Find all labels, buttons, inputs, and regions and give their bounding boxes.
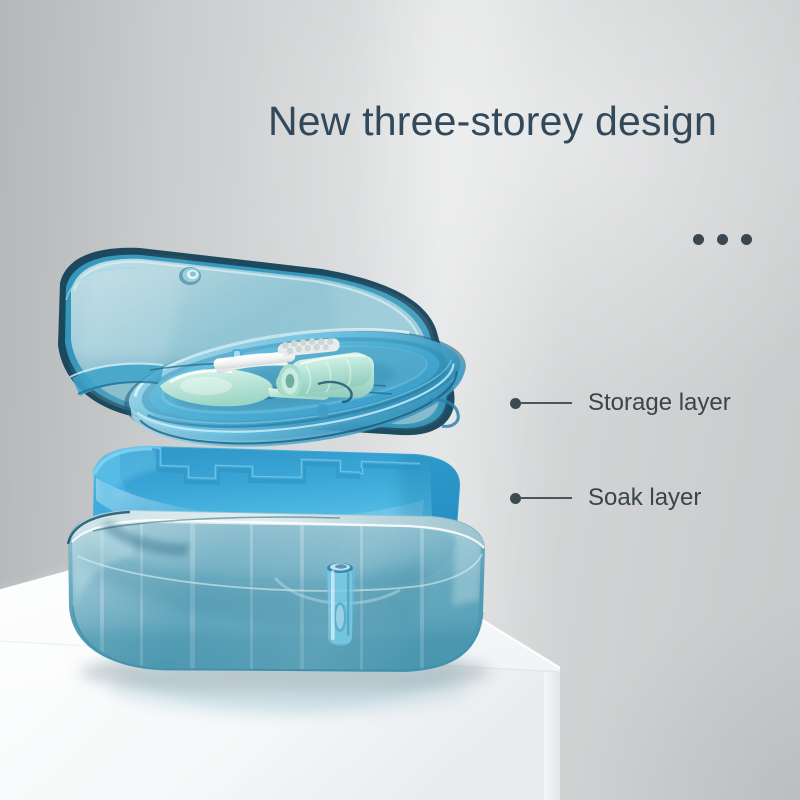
callout-dot-icon xyxy=(510,493,521,504)
callout-label: Soak layer xyxy=(588,485,701,511)
product-image-canvas: New three-storey design Storage layer So… xyxy=(0,0,800,800)
callout-label: Storage layer xyxy=(588,390,731,416)
callout-soak-layer: Soak layer xyxy=(510,485,701,511)
callout-storage-layer: Storage layer xyxy=(510,390,731,416)
three-dots-ornament xyxy=(693,234,752,245)
ornament-dot xyxy=(717,234,728,245)
lid-knob-icon xyxy=(179,267,201,285)
callout-leader-line xyxy=(521,402,572,404)
callout-dot-icon xyxy=(510,398,521,409)
callout-leader-line xyxy=(521,497,572,499)
ornament-dot xyxy=(741,234,752,245)
page-title: New three-storey design xyxy=(268,97,778,145)
ornament-dot xyxy=(693,234,704,245)
